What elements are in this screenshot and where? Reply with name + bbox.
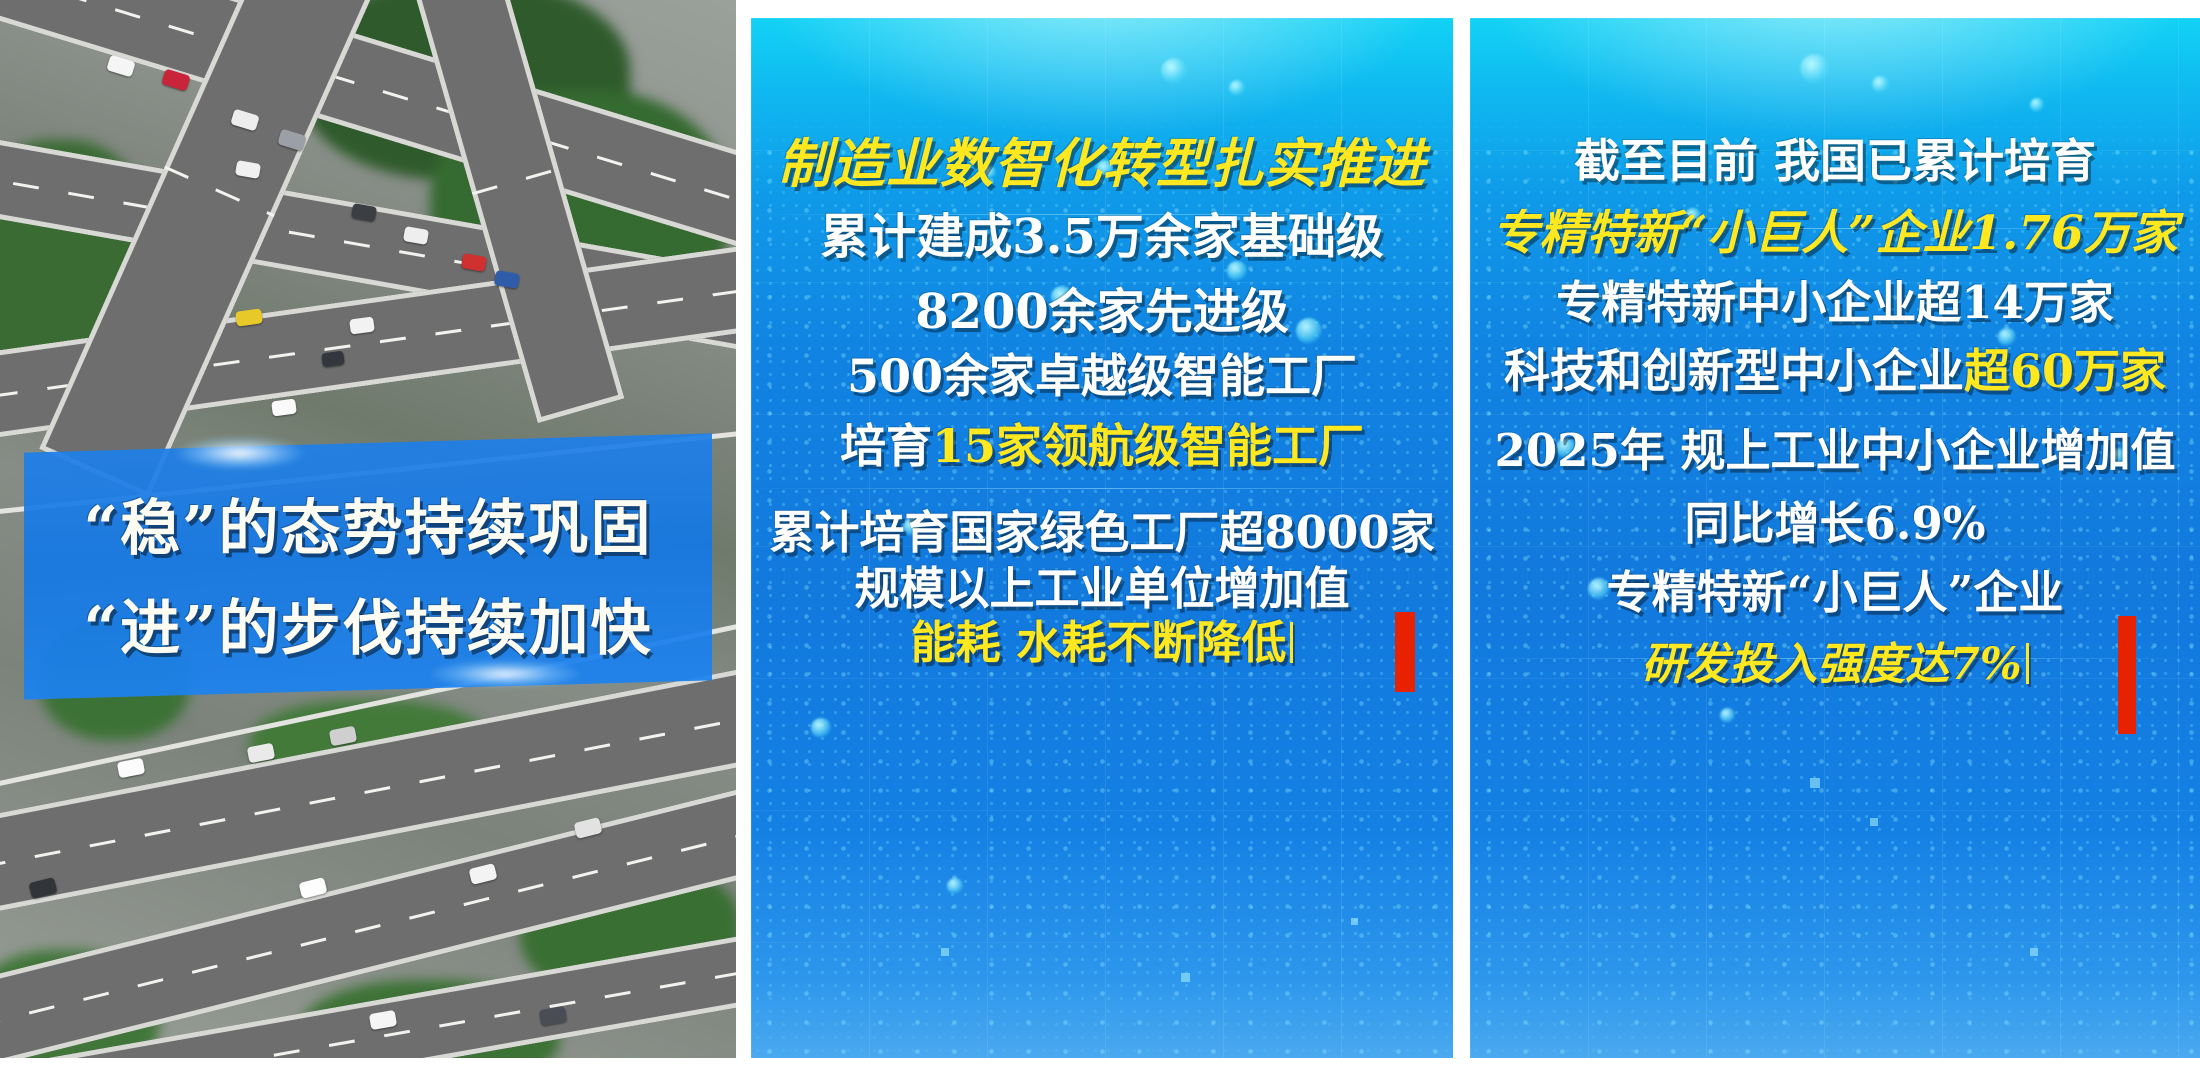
scan-line — [751, 488, 1453, 489]
panel3-line-4-highlight: 超60万家 — [1964, 344, 2166, 398]
band-glow-left — [175, 436, 305, 470]
panel3-line-4-prefix: 科技和创新型中小企业 — [1504, 344, 1964, 398]
panel2-title: 制造业数智化转型扎实推进 — [751, 138, 1453, 191]
panel2-line-7: 能耗 水耗不断降低 — [751, 620, 1453, 665]
bokeh-dot — [2030, 98, 2044, 112]
pixel-square — [1351, 918, 1358, 925]
panel3-line-3: 专精特新中小企业超14万家 — [1470, 280, 2200, 325]
panel3-line-7: 专精特新“小巨人”企业 — [1470, 570, 2200, 615]
panel3-line-2: 专精特新“小巨人”企业1.76万家 — [1470, 210, 2200, 257]
panel3-line-5: 2025年 规上工业中小企业增加值 — [1470, 428, 2200, 473]
panel1-caption-line-1: “稳”的态势持续巩固 — [0, 480, 736, 567]
panel2-line-4: 培育15家领航级智能工厂 — [751, 423, 1453, 469]
panel2-line-2: 8200余家先进级 — [751, 288, 1453, 336]
panel3-line-8-text: 研发投入强度达7% — [1641, 639, 2021, 690]
bokeh-dot — [947, 878, 963, 894]
panel3-line-8: 研发投入强度达7% — [1470, 643, 2200, 687]
red-marker-bar — [1395, 612, 1415, 692]
panel2-line-4-highlight: 15家领航级智能工厂 — [932, 419, 1364, 473]
bokeh-dot — [1800, 54, 1830, 84]
panel3-line-4: 科技和创新型中小企业超60万家 — [1470, 348, 2200, 394]
bokeh-dot — [811, 718, 831, 738]
pixel-square — [2030, 948, 2038, 956]
panel2-line-7-text: 能耗 水耗不断降低 — [911, 616, 1287, 669]
panel2-line-6: 规模以上工业单位增加值 — [751, 566, 1453, 611]
pixel-square — [1810, 778, 1820, 788]
pixel-square — [1181, 973, 1190, 982]
panel3-line-6: 同比增长6.9% — [1470, 501, 2200, 546]
bokeh-dot — [1229, 80, 1245, 96]
panel-manufacturing-slide: 制造业数智化转型扎实推进 累计建成3.5万余家基础级 8200余家先进级 500… — [751, 18, 1453, 1058]
pixel-square — [1870, 818, 1878, 826]
panel2-line-4-prefix: 培育 — [840, 419, 932, 473]
text-cursor — [1290, 622, 1293, 663]
text-cursor — [2026, 643, 2029, 683]
pixel-square — [941, 948, 949, 956]
panel2-line-3: 500余家卓越级智能工厂 — [751, 353, 1453, 399]
panel3-line-1: 截至目前 我国已累计培育 — [1470, 138, 2200, 184]
screenshot-canvas: “稳”的态势持续巩固 “进”的步伐持续加快 制造业数智化转型扎实推进 累计建成3… — [0, 0, 2200, 1080]
bokeh-dot — [1872, 76, 1889, 93]
panel1-caption-line-2: “进”的步伐持续加快 — [0, 580, 736, 667]
bokeh-dot — [1161, 58, 1187, 84]
bokeh-dot — [1720, 708, 1735, 723]
panel2-line-1: 累计建成3.5万余家基础级 — [751, 213, 1453, 261]
panel-sme-statistics-slide: 截至目前 我国已累计培育 专精特新“小巨人”企业1.76万家 专精特新中小企业超… — [1470, 18, 2200, 1058]
panel-aerial-highway: “稳”的态势持续巩固 “进”的步伐持续加快 — [0, 0, 736, 1058]
panel2-line-5: 累计培育国家绿色工厂超8000家 — [751, 510, 1453, 555]
red-marker-bar — [2118, 616, 2136, 734]
